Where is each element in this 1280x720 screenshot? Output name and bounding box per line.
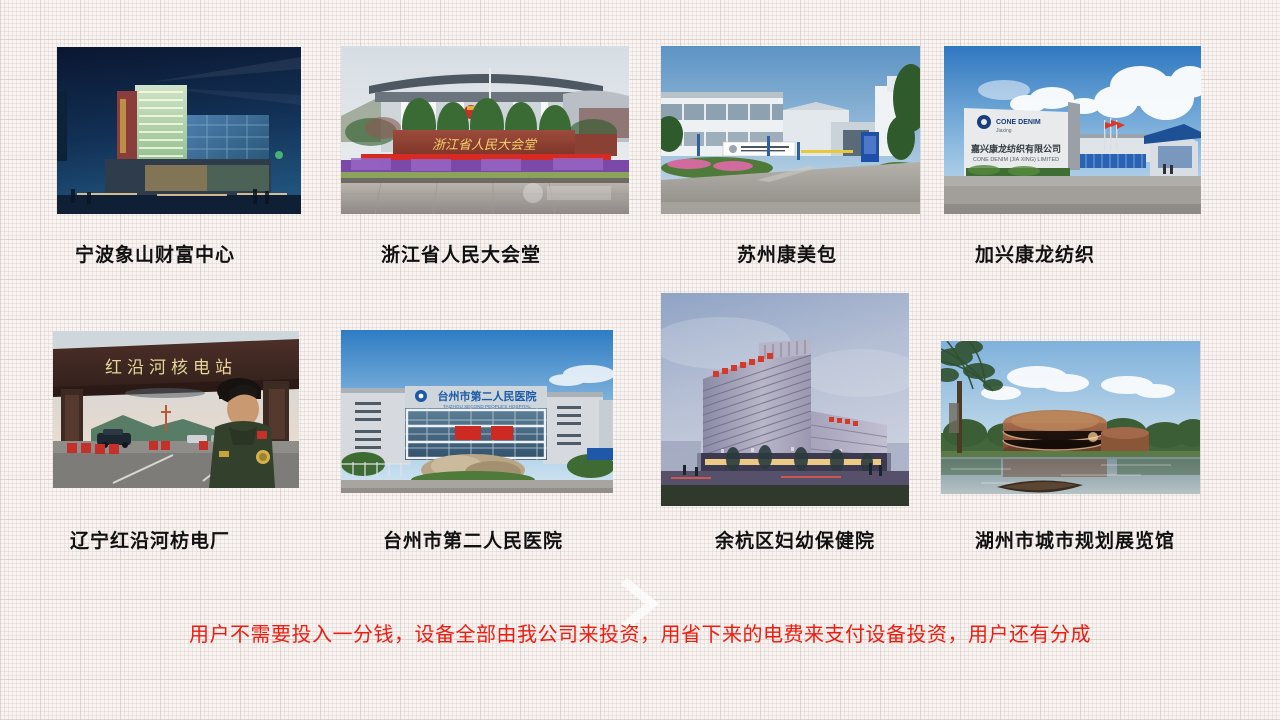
footnote-text: 用户不需要投入一分钱，设备全部由我公司来投资，用省下来的电费来支付设备投资，用户… — [0, 618, 1280, 647]
svg-text:红沿河核电站: 红沿河核电站 — [105, 358, 237, 377]
photo-suzhou-sig-combibloc-factory — [661, 46, 920, 214]
photo-zhejiang-great-hall-of-the-people: 浙江省人民大会堂 — [341, 46, 629, 214]
photo-jiaxing-cone-denim-textile-plant: CONE DENIM Jiaxing 嘉兴康龙纺织有限公司 CONE DENIM… — [944, 46, 1201, 214]
svg-text:浙江省人民大会堂: 浙江省人民大会堂 — [432, 137, 538, 152]
svg-text:Jiaxing: Jiaxing — [996, 128, 1012, 134]
gallery-item-7[interactable] — [661, 293, 909, 506]
gallery-item-2[interactable]: 浙江省人民大会堂 — [341, 46, 629, 214]
svg-text:CONE DENIM: CONE DENIM — [996, 119, 1041, 126]
svg-text:CONE DENIM (JIA XING) LIMITED: CONE DENIM (JIA XING) LIMITED — [973, 157, 1059, 163]
gallery-item-5[interactable]: 红沿河核电站 — [53, 331, 299, 488]
gallery-caption-3: 苏州康美包 — [737, 240, 837, 267]
svg-text:嘉兴康龙纺织有限公司: 嘉兴康龙纺织有限公司 — [970, 143, 1061, 154]
photo-huzhou-urban-planning-exhibition-hall — [941, 341, 1200, 494]
gallery-caption-5: 辽宁红沿河枋电厂 — [70, 526, 230, 553]
gallery-caption-2: 浙江省人民大会堂 — [381, 240, 541, 267]
gallery-caption-6: 台州市第二人民医院 — [383, 526, 563, 553]
gallery-item-8[interactable] — [941, 341, 1200, 494]
gallery-item-6[interactable]: 台州市第二人民医院 TAIZHOU SECOND PEOPLE'S HOSPIT… — [341, 330, 613, 493]
svg-text:台州市第二人民医院: 台州市第二人民医院 — [438, 389, 537, 403]
photo-taizhou-second-peoples-hospital: 台州市第二人民医院 TAIZHOU SECOND PEOPLE'S HOSPIT… — [341, 330, 613, 493]
photo-liaoning-hongyanhe-nuclear-plant-gate: 红沿河核电站 — [53, 331, 299, 488]
gallery-item-4[interactable]: CONE DENIM Jiaxing 嘉兴康龙纺织有限公司 CONE DENIM… — [944, 46, 1201, 214]
gallery-caption-7: 余杭区妇幼保健院 — [715, 526, 875, 553]
gallery-caption-1: 宁波象山财富中心 — [75, 240, 235, 267]
gallery-caption-4: 加兴康龙纺织 — [975, 240, 1095, 267]
gallery-caption-8: 湖州市城市规划展览馆 — [975, 526, 1175, 553]
photo-ningbo-xiangshan-wealth-center-night-rendering — [57, 47, 301, 214]
gallery-item-1[interactable] — [57, 47, 301, 214]
gallery-item-3[interactable] — [661, 46, 920, 214]
slide-canvas: 宁波象山财富中心 — [0, 0, 1280, 720]
photo-yuhang-maternal-child-health-hospital-rendering — [661, 293, 909, 506]
